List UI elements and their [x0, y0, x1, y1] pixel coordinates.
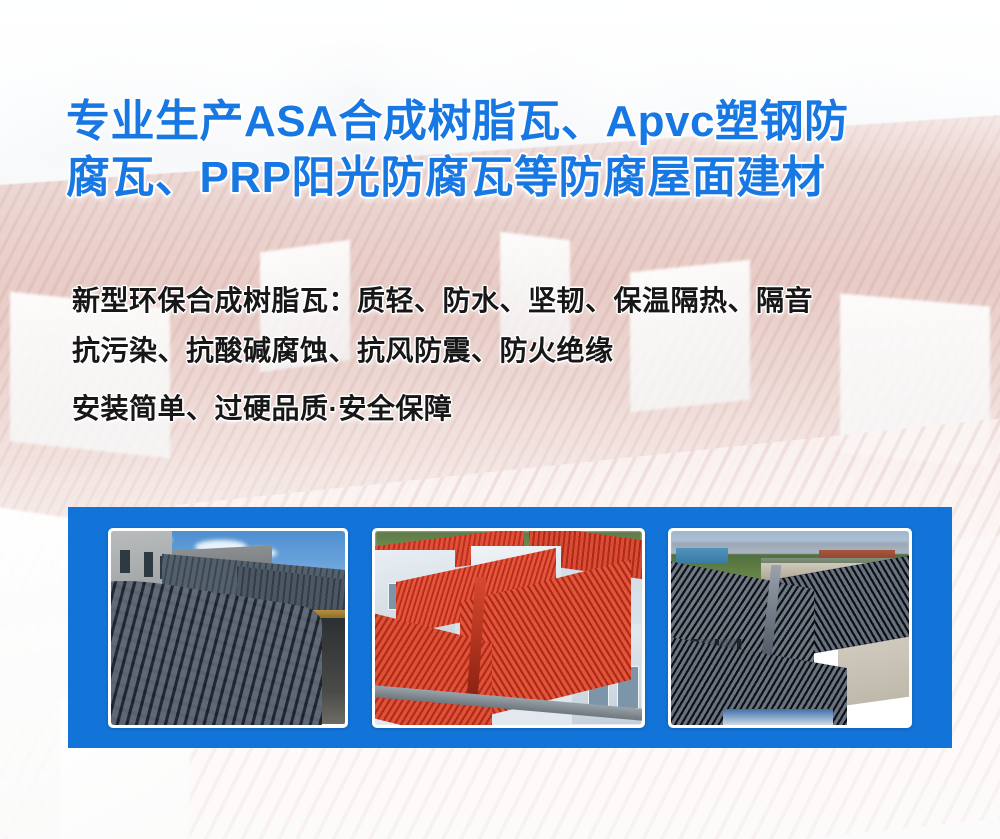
black-tile-roof-village-photo	[671, 531, 909, 725]
gallery-photo-frame-2[interactable]	[372, 528, 645, 728]
banner-headline: 专业生产ASA合成树脂瓦、Apvc塑钢防 腐瓦、PRP阳光防腐瓦等防腐屋面建材	[66, 94, 946, 206]
photo-blue-element	[723, 709, 832, 725]
product-banner: 专业生产ASA合成树脂瓦、Apvc塑钢防 腐瓦、PRP阳光防腐瓦等防腐屋面建材 …	[0, 0, 1000, 839]
gallery-photo-frame-1[interactable]	[108, 528, 348, 728]
banner-subheadline-group: 新型环保合成树脂瓦：质轻、防水、坚韧、保温隔热、隔音 抗污染、抗酸碱腐蚀、抗风防…	[72, 276, 952, 434]
photo-window	[144, 552, 153, 577]
photo-gallery-panel	[68, 507, 952, 748]
grey-tile-roof-courtyard-photo	[111, 531, 345, 725]
photo-blue-roof-building	[676, 548, 728, 564]
subheadline-line-2: 抗污染、抗酸碱腐蚀、抗风防震、防火绝缘	[72, 326, 952, 376]
photo-window	[120, 550, 129, 573]
subheadline-line-3: 安装简单、过硬品质·安全保障	[72, 384, 952, 434]
gallery-photo-frame-3[interactable]	[668, 528, 912, 728]
red-tile-roof-buildings-photo	[375, 531, 642, 725]
subheadline-line-1: 新型环保合成树脂瓦：质轻、防水、坚韧、保温隔热、隔音	[72, 276, 952, 326]
